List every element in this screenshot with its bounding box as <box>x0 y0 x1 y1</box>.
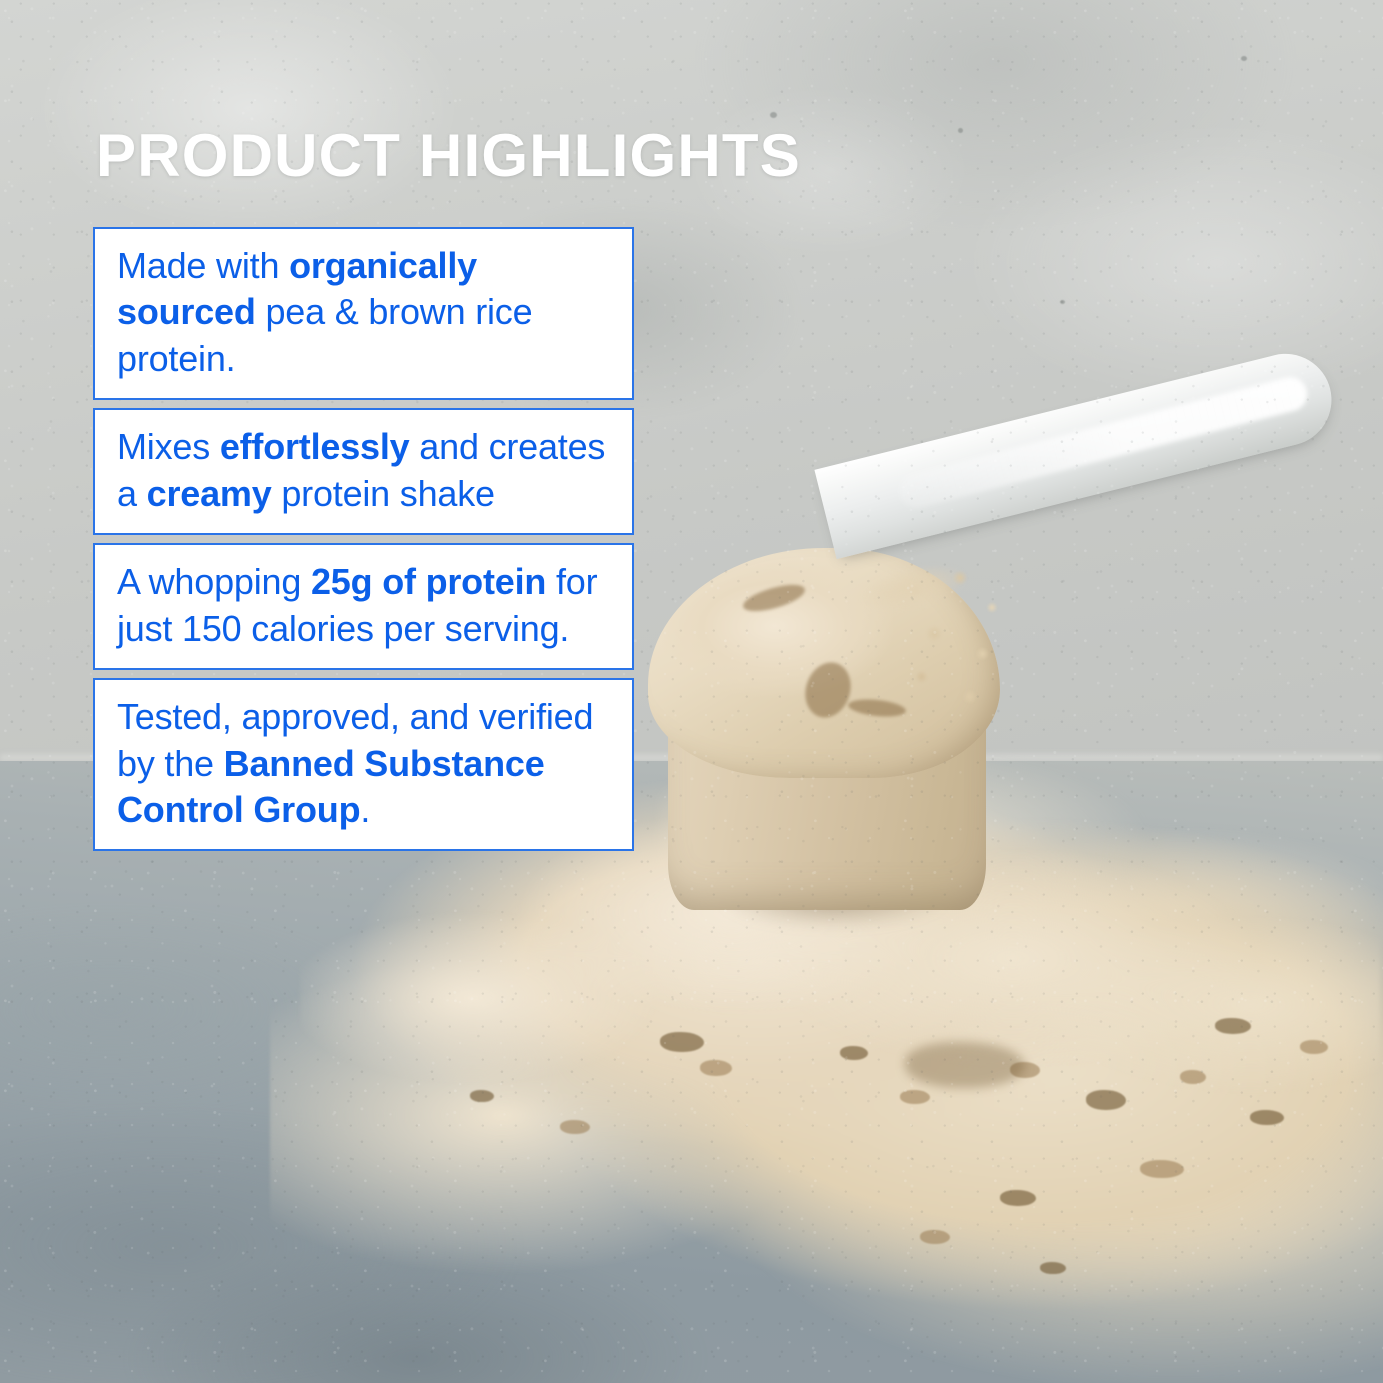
highlight-card-protein-calories: A whopping 25g of protein for just 150 c… <box>93 543 634 670</box>
page-title: PRODUCT HIGHLIGHTS <box>96 126 801 186</box>
highlight-emphasis: 25g of protein <box>311 561 546 602</box>
highlight-emphasis: creamy <box>147 473 272 514</box>
highlight-card-organic-sourcing: Made with organically sourced pea & brow… <box>93 227 634 400</box>
highlight-emphasis: effortlessly <box>220 426 410 467</box>
text-overlay: PRODUCT HIGHLIGHTS Made with organically… <box>0 0 1383 1383</box>
product-highlights-graphic: PRODUCT HIGHLIGHTS Made with organically… <box>0 0 1383 1383</box>
highlights-list: Made with organically sourced pea & brow… <box>93 227 634 851</box>
highlight-card-bscg-certified: Tested, approved, and verified by the Ba… <box>93 678 634 851</box>
highlight-card-mixability: Mixes effortlessly and creates a creamy … <box>93 408 634 535</box>
